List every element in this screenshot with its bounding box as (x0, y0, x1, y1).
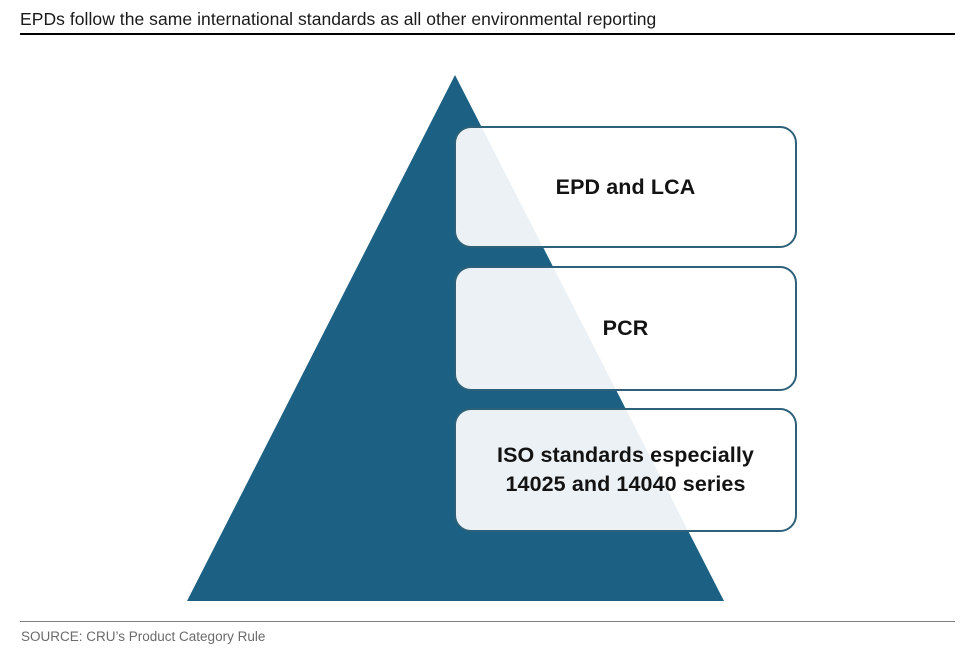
slide-canvas: EPDs follow the same international stand… (0, 0, 974, 650)
pyramid-level-iso-label: ISO standards especially 14025 and 14040… (483, 441, 768, 499)
title-divider-rule (20, 33, 955, 35)
pyramid-level-pcr-label: PCR (589, 314, 663, 343)
page-title: EPDs follow the same international stand… (20, 7, 955, 32)
title-block: EPDs follow the same international stand… (20, 7, 955, 35)
pyramid-level-pcr[interactable]: PCR (454, 266, 797, 391)
pyramid-level-epd-lca[interactable]: EPD and LCA (454, 126, 797, 248)
source-note: SOURCE: CRU’s Product Category Rule (21, 627, 265, 646)
pyramid-level-iso[interactable]: ISO standards especially 14025 and 14040… (454, 408, 797, 532)
footer-divider-rule (20, 621, 955, 622)
pyramid-level-epd-lca-label: EPD and LCA (542, 173, 710, 202)
